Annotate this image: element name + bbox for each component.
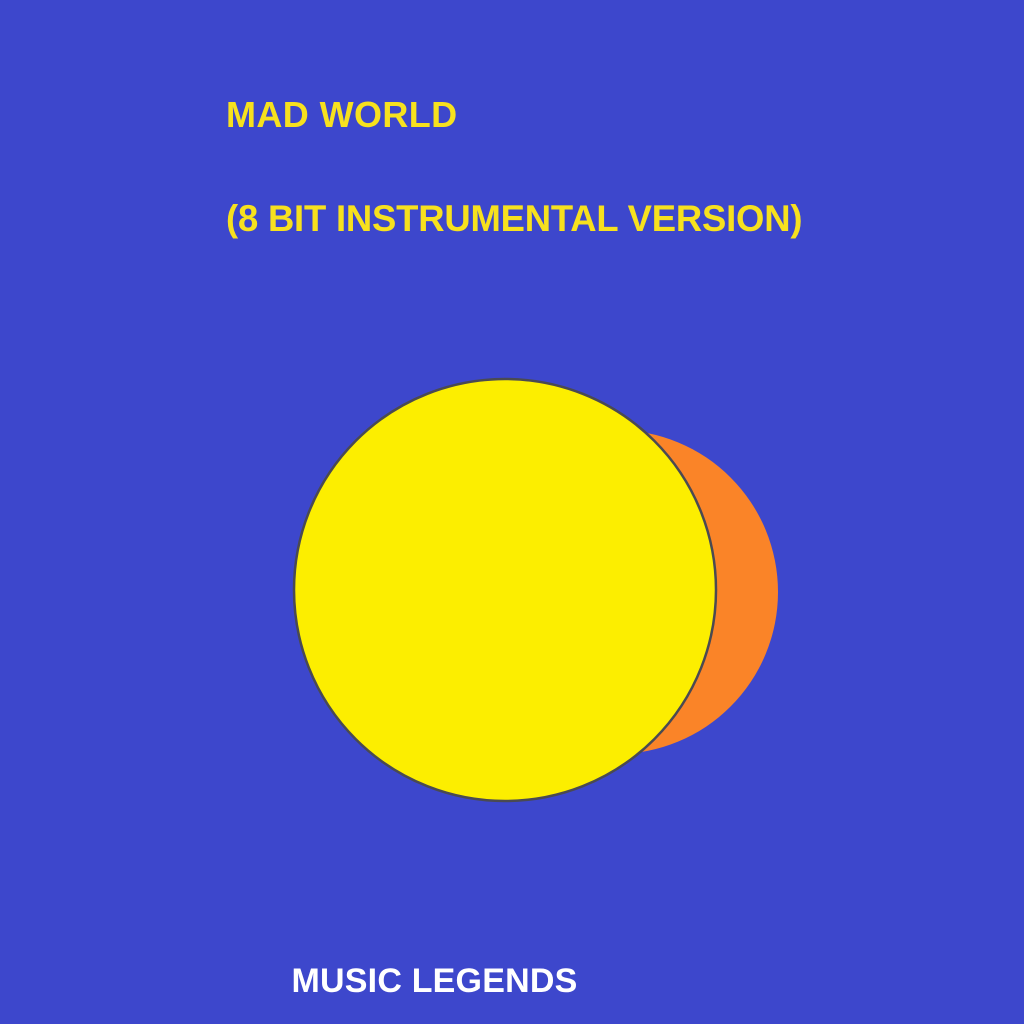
artist-name: MUSIC LEGENDS [0,962,1024,1001]
cover-title: MAD WORLD [226,96,926,134]
cover-subtitle: (8 BIT INSTRUMENTAL VERSION) [226,200,802,239]
title-block: MAD WORLD (8 BIT INSTRUMENTAL VERSION) [226,96,926,134]
album-cover: MAD WORLD (8 BIT INSTRUMENTAL VERSION) M… [0,0,1024,1024]
yellow-circle [294,379,716,801]
cover-artwork [0,0,1024,1024]
